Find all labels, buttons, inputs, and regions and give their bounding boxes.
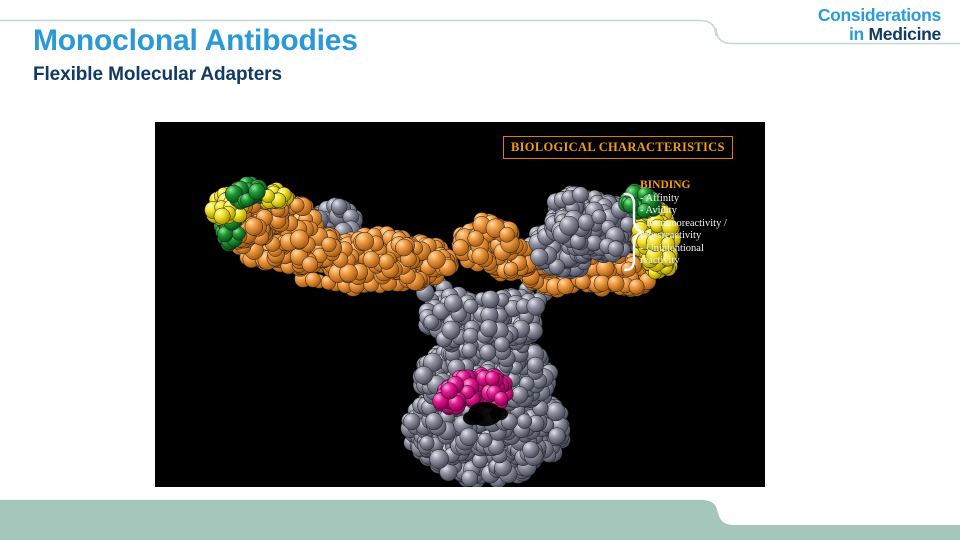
page-title: Monoclonal Antibodies [33, 24, 653, 58]
annotation-item: - Affinity [640, 193, 762, 205]
brand-name-line2: in Medicine [818, 26, 941, 44]
bottom-banner [0, 496, 960, 540]
antibody-molecule-illustration [155, 122, 765, 487]
annotation-title: BINDING [640, 179, 762, 192]
slide-canvas: Monoclonal Antibodies Flexible Molecular… [0, 0, 960, 540]
brand-name-line1: Considerations [818, 7, 941, 25]
binding-annotation: BINDING - Affinity - Avidity - Immunorea… [640, 179, 762, 267]
title-block: Monoclonal Antibodies Flexible Molecular… [33, 24, 653, 87]
annotation-item: - Unintentional [640, 243, 762, 255]
brand-logo: Considerations in Medicine [818, 7, 941, 43]
figure-panel: BIOLOGICAL CHARACTERISTICS BINDING - Aff… [155, 122, 765, 487]
annotation-item: crossreactivity [640, 230, 762, 242]
brand-word-medicine: Medicine [869, 24, 941, 44]
annotation-item: - Avidity [640, 205, 762, 217]
annotation-item: - Immunoreactivity / [640, 218, 762, 230]
page-subtitle: Flexible Molecular Adapters [33, 63, 653, 87]
figure-header-label: BIOLOGICAL CHARACTERISTICS [511, 140, 725, 155]
brand-word-in: in [849, 24, 869, 44]
annotation-item: reactivity [640, 255, 762, 267]
figure-header-box: BIOLOGICAL CHARACTERISTICS [503, 136, 733, 159]
